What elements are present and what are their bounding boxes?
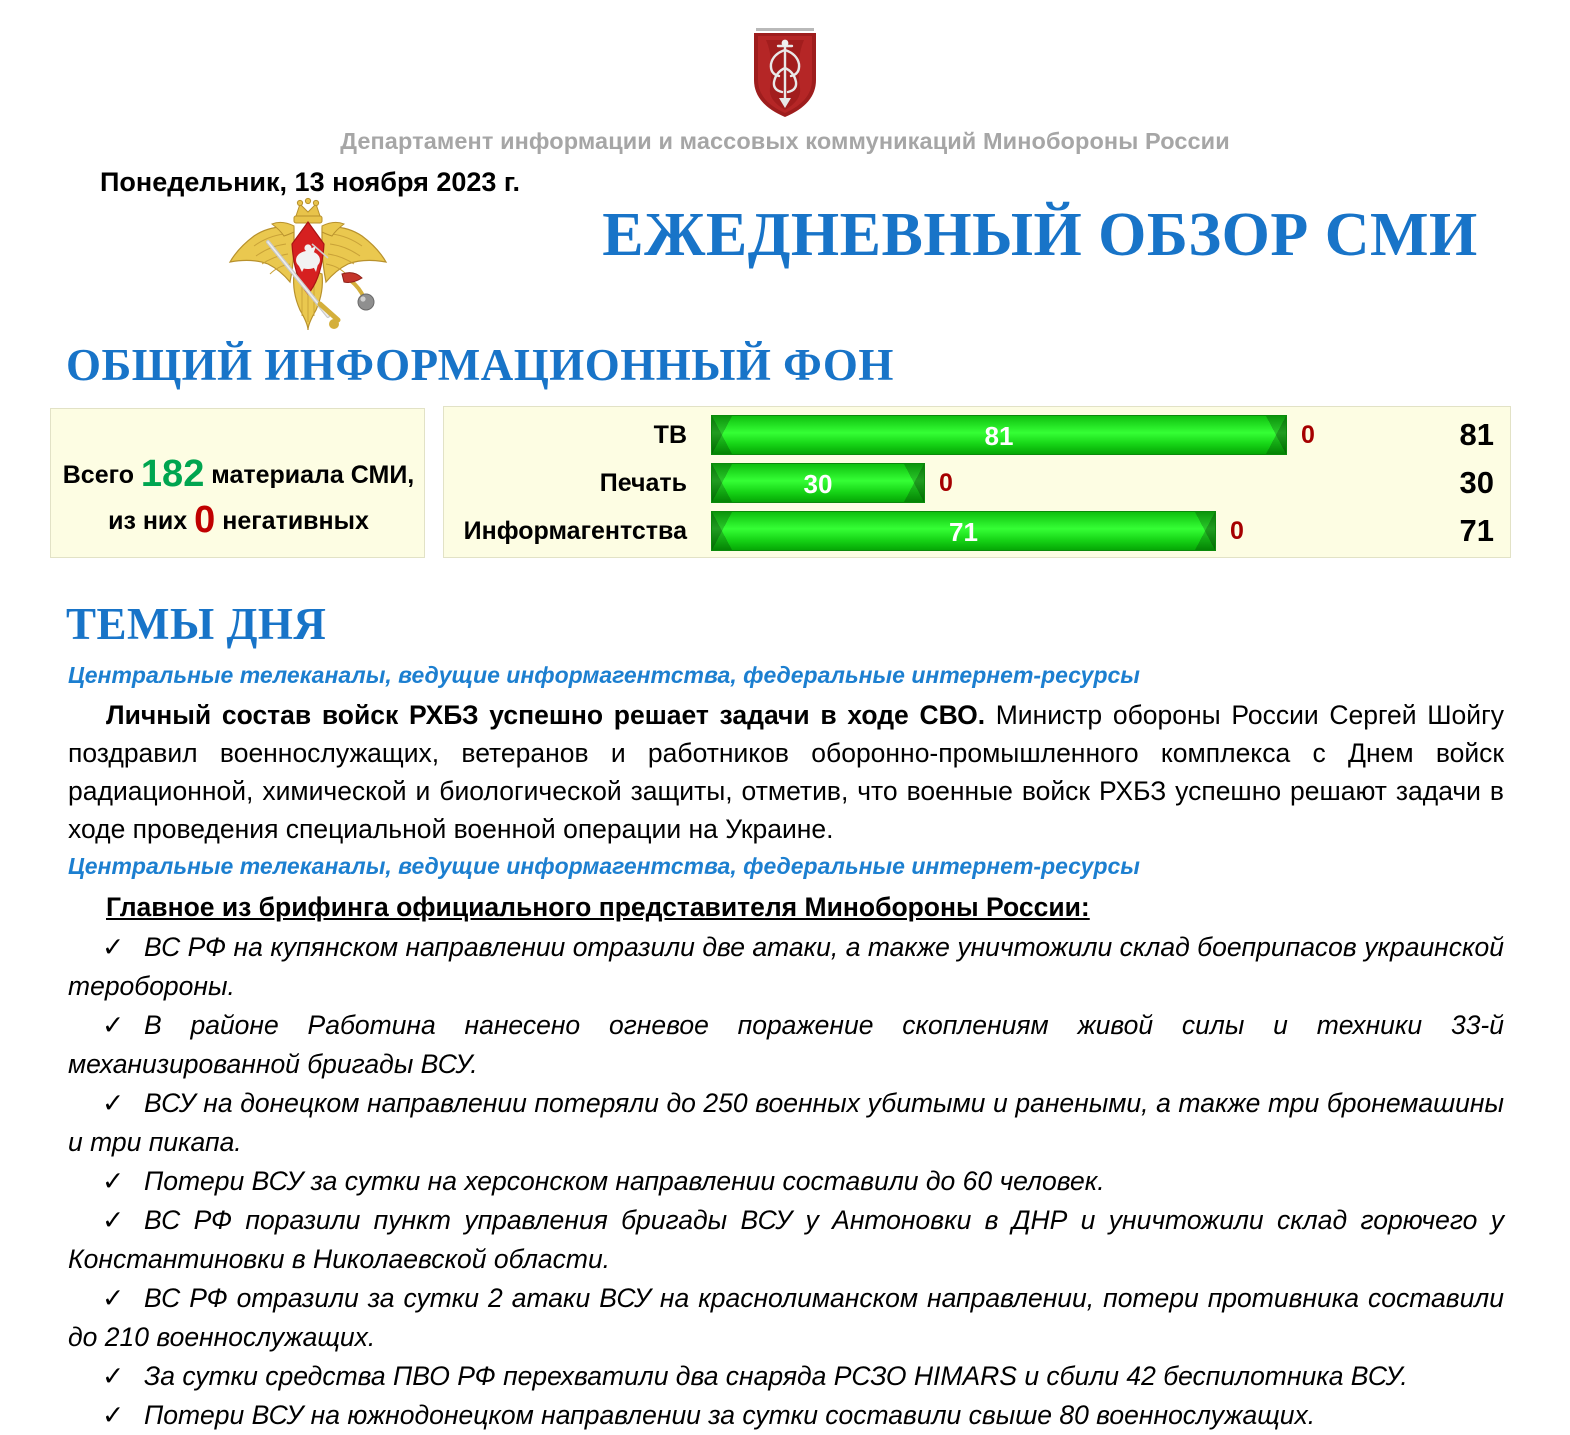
summary-line-total: Всего 182 материала СМИ, — [51, 453, 426, 496]
summary-negative-suffix: негативных — [222, 507, 369, 535]
check-icon: ✓ — [68, 1006, 144, 1045]
bar-track-agencies: 71 0 — [711, 509, 1501, 553]
bar-total-print: 30 — [1460, 461, 1494, 505]
department-subtitle: Департамент информации и массовых коммун… — [0, 128, 1570, 155]
bar-fill-tv: 81 — [711, 415, 1287, 455]
page-title: ЕЖЕДНЕВНЫЙ ОБЗОР СМИ — [580, 200, 1500, 270]
bar-fill-print: 30 — [711, 463, 925, 503]
briefing-bullet-item: ✓За сутки средства ПВО РФ перехватили дв… — [68, 1357, 1504, 1396]
briefing-title-text: Главное из брифинга официального предста… — [106, 892, 1090, 922]
ministry-eagle-emblem — [224, 196, 392, 336]
bar-fill-agencies: 71 — [711, 511, 1216, 551]
bar-value-tv: 81 — [712, 416, 1286, 456]
summary-total-prefix: Всего — [63, 461, 134, 489]
topic-paragraph-1-lead: Личный состав войск РХБЗ успешно решает … — [106, 700, 985, 730]
chart-row-print: Печать 30 0 30 — [444, 461, 1512, 505]
document-date: Понедельник, 13 ноября 2023 г. — [100, 167, 520, 198]
check-icon: ✓ — [68, 1279, 144, 1318]
bar-negative-tv: 0 — [1301, 413, 1315, 457]
bar-track-print: 30 0 — [711, 461, 1501, 505]
check-icon: ✓ — [68, 1357, 144, 1396]
double-headed-eagle-emblem-icon — [224, 196, 392, 336]
top-shield-emblem — [0, 28, 1570, 124]
bar-chart: ТВ 81 0 81 Печать 30 0 30 Информагентств… — [444, 407, 1512, 559]
bar-value-print: 30 — [712, 464, 924, 504]
source-subheading-2: Центральные телеканалы, ведущие информаг… — [68, 853, 1508, 880]
summary-total-suffix: материала СМИ, — [211, 461, 414, 489]
topic-paragraph-1: Личный состав войск РХБЗ успешно решает … — [68, 696, 1504, 848]
media-breakdown-chart-panel: ТВ 81 0 81 Печать 30 0 30 Информагентств… — [443, 406, 1511, 558]
bar-value-agencies: 71 — [712, 512, 1215, 552]
summary-negative-value: 0 — [194, 499, 215, 541]
check-icon: ✓ — [68, 1201, 144, 1240]
briefing-bullet-text: Потери ВСУ на южнодонецком направлении з… — [144, 1400, 1315, 1430]
briefing-title: Главное из брифинга официального предста… — [68, 888, 1504, 926]
summary-negative-prefix: из них — [108, 507, 187, 535]
check-icon: ✓ — [68, 1084, 144, 1123]
bar-track-tv: 81 0 — [711, 413, 1501, 457]
bar-negative-print: 0 — [939, 461, 953, 505]
check-icon: ✓ — [68, 928, 144, 967]
summary-line-negative: из них 0 негативных — [51, 499, 426, 542]
briefing-bullet-text: В районе Работина нанесено огневое пораж… — [68, 1010, 1504, 1079]
bar-total-tv: 81 — [1460, 413, 1494, 457]
chart-row-agencies: Информагентства 71 0 71 — [444, 509, 1512, 553]
briefing-bullet-text: ВС РФ поразили пункт управления бригады … — [68, 1205, 1504, 1274]
briefing-bullet-text: За сутки средства ПВО РФ перехватили два… — [144, 1361, 1408, 1391]
bar-total-agencies: 71 — [1460, 509, 1494, 553]
briefing-bullet-item: ✓ВС РФ поразили пункт управления бригады… — [68, 1201, 1504, 1279]
summary-total-value: 182 — [141, 453, 204, 495]
section-heading-topics: ТЕМЫ ДНЯ — [66, 598, 326, 650]
briefing-bullet-text: ВСУ на донецком направлении потеряли до … — [68, 1088, 1504, 1157]
total-summary-panel: Всего 182 материала СМИ, из них 0 негати… — [50, 408, 425, 558]
chart-row-tv: ТВ 81 0 81 — [444, 413, 1512, 457]
briefing-bullet-text: ВС РФ отразили за сутки 2 атаки ВСУ на к… — [68, 1283, 1504, 1352]
bar-label-print: Печать — [444, 461, 687, 505]
briefing-bullet-text: ВС РФ на купянском направлении отразили … — [68, 932, 1504, 1001]
check-icon: ✓ — [68, 1162, 144, 1201]
briefing-bullet-item: ✓ВС РФ на купянском направлении отразили… — [68, 928, 1504, 1006]
briefing-bullet-item: ✓В районе Работина нанесено огневое пора… — [68, 1006, 1504, 1084]
section-heading-background: ОБЩИЙ ИНФОРМАЦИОННЫЙ ФОН — [66, 339, 894, 391]
briefing-bullet-text: Потери ВСУ за сутки на херсонском направ… — [144, 1166, 1105, 1196]
briefing-bullet-list: ✓ВС РФ на купянском направлении отразили… — [68, 928, 1504, 1435]
bar-label-tv: ТВ — [444, 413, 687, 457]
bar-label-agencies: Информагентства — [444, 509, 687, 553]
source-subheading-1: Центральные телеканалы, ведущие информаг… — [68, 662, 1508, 689]
red-shield-emblem-icon — [746, 28, 824, 120]
briefing-bullet-item: ✓ВСУ на донецком направлении потеряли до… — [68, 1084, 1504, 1162]
briefing-bullet-item: ✓Потери ВСУ за сутки на херсонском напра… — [68, 1162, 1504, 1201]
bar-negative-agencies: 0 — [1230, 509, 1244, 553]
briefing-bullet-item: ✓ВС РФ отразили за сутки 2 атаки ВСУ на … — [68, 1279, 1504, 1357]
